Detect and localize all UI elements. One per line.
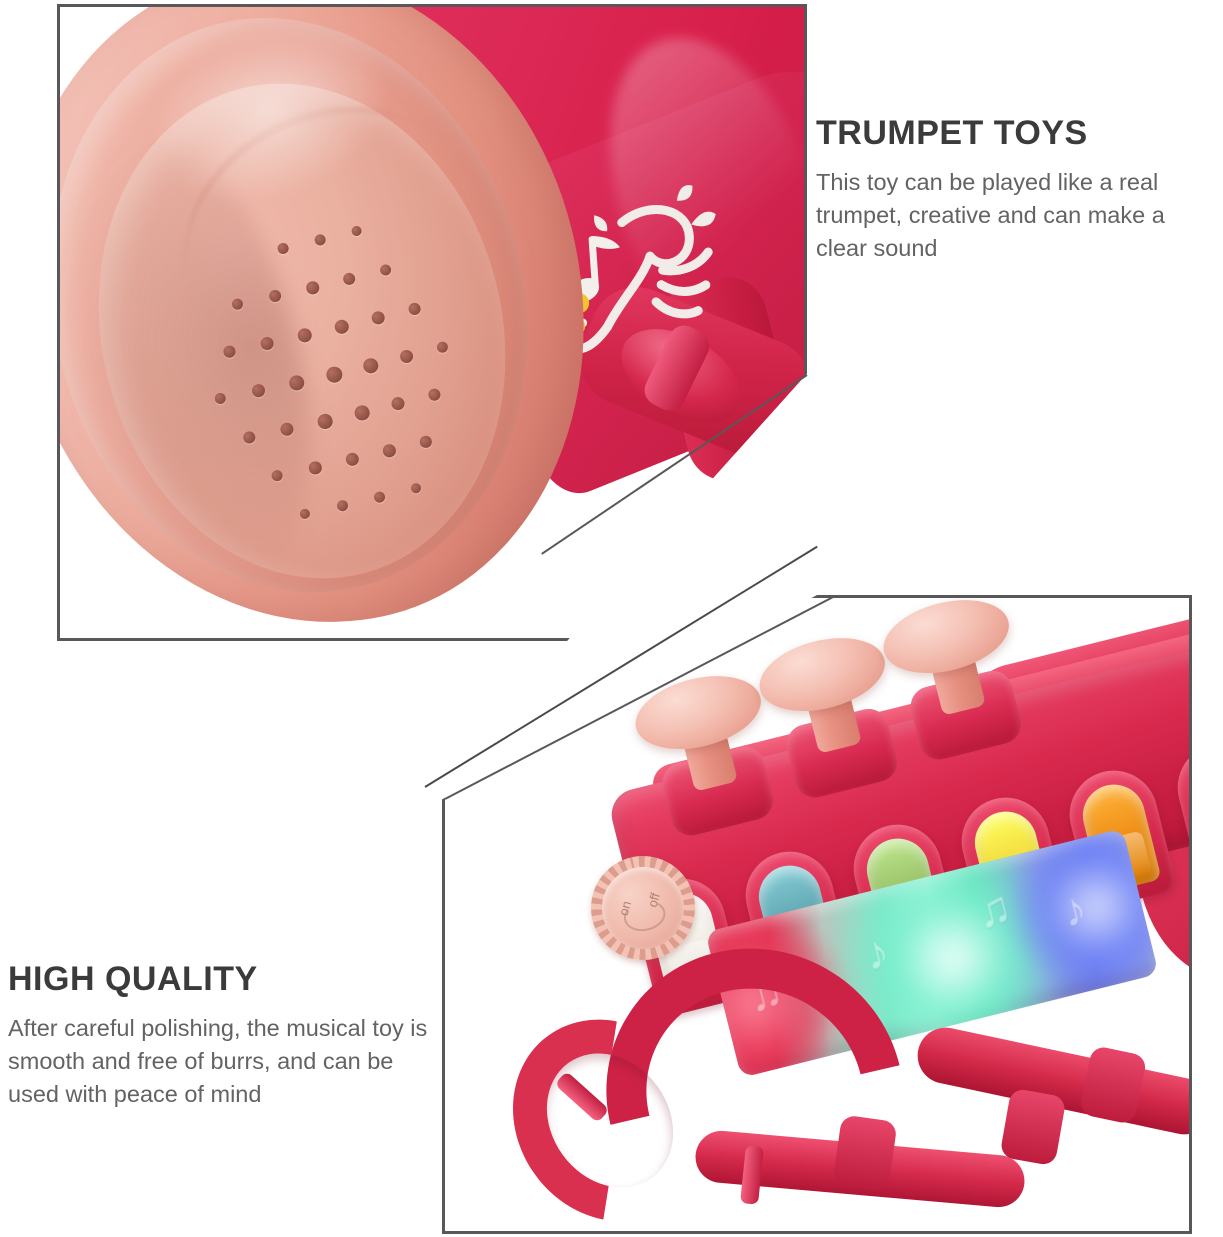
speaker-hole bbox=[436, 341, 449, 354]
power-dial[interactable]: on off bbox=[581, 846, 704, 969]
speaker-hole bbox=[270, 469, 284, 483]
speaker-hole bbox=[314, 233, 327, 246]
speaker-hole bbox=[259, 336, 275, 352]
speaker-hole bbox=[305, 280, 320, 295]
speaker-hole bbox=[333, 318, 350, 335]
speaker-hole bbox=[419, 435, 433, 449]
panel-bell-closeup bbox=[57, 4, 807, 641]
key-red[interactable] bbox=[1184, 751, 1192, 867]
tubing-stub-1 bbox=[832, 1114, 897, 1191]
speaker-hole bbox=[370, 310, 386, 326]
feature-body: This toy can be played like a real trump… bbox=[816, 166, 1216, 266]
feature-body: After careful polishing, the musical toy… bbox=[8, 1012, 438, 1112]
infographic-canvas: on off ♫ ♪ ♫ ♪ bbox=[0, 0, 1223, 1237]
photo-trumpet-bell bbox=[60, 7, 804, 638]
feature-high-quality: HIGH QUALITY After careful polishing, th… bbox=[8, 962, 438, 1112]
speaker-hole bbox=[336, 499, 349, 512]
speaker-hole bbox=[222, 345, 236, 359]
feature-trumpet-toys: TRUMPET TOYS This toy can be played like… bbox=[816, 116, 1216, 266]
speaker-hole bbox=[308, 460, 323, 475]
speaker-hole bbox=[277, 242, 290, 255]
speaker-hole bbox=[399, 349, 415, 365]
speaker-hole bbox=[382, 443, 397, 458]
speaker-hole bbox=[373, 491, 386, 504]
speaker-hole bbox=[242, 430, 256, 444]
speaker-hole bbox=[427, 388, 441, 402]
speaker-hole bbox=[299, 508, 311, 520]
speaker-hole bbox=[316, 413, 334, 431]
speaker-hole bbox=[288, 374, 306, 392]
speaker-hole bbox=[325, 365, 345, 385]
speaker-hole bbox=[214, 392, 227, 405]
speaker-hole bbox=[407, 302, 421, 316]
speaker-hole bbox=[268, 289, 283, 304]
speaker-hole bbox=[231, 298, 244, 311]
speaker-hole bbox=[251, 383, 266, 398]
feature-heading: TRUMPET TOYS bbox=[816, 116, 1216, 152]
speaker-hole bbox=[410, 482, 423, 495]
speaker-hole bbox=[351, 225, 363, 237]
speaker-hole bbox=[362, 357, 380, 375]
feature-heading: HIGH QUALITY bbox=[8, 962, 438, 998]
panel-keys-closeup: on off ♫ ♪ ♫ ♪ bbox=[442, 595, 1192, 1234]
speaker-hole bbox=[390, 396, 406, 412]
photo-trumpet-keys: on off ♫ ♪ ♫ ♪ bbox=[445, 598, 1189, 1231]
speaker-hole bbox=[379, 263, 392, 276]
speaker-hole bbox=[342, 272, 357, 287]
speaker-hole bbox=[296, 327, 313, 344]
speaker-hole bbox=[345, 452, 361, 468]
key-socket-red bbox=[1168, 734, 1192, 883]
speaker-hole bbox=[353, 404, 371, 422]
speaker-hole bbox=[279, 421, 295, 437]
